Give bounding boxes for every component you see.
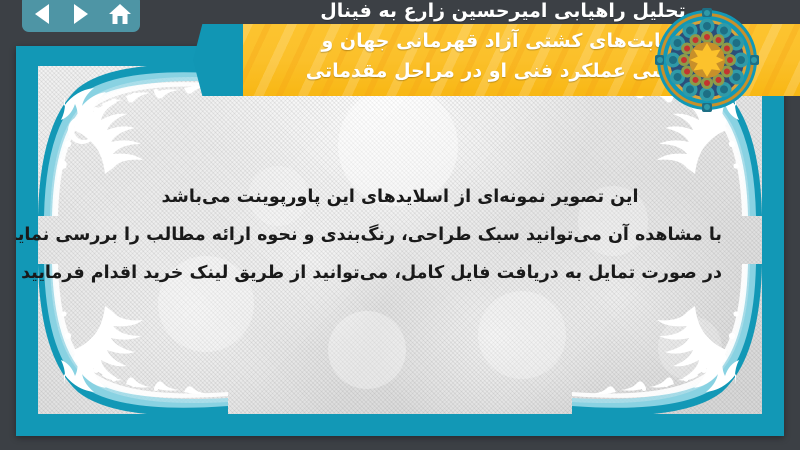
slide-body-text: این تصویر نمونه‌ای از اسلایدهای این پاور…: [78, 178, 722, 292]
persian-medallion-ornament: [655, 8, 759, 112]
bokeh-circle: [328, 311, 406, 389]
body-line-1: این تصویر نمونه‌ای از اسلایدهای این پاور…: [78, 178, 722, 216]
home-button[interactable]: [105, 1, 135, 27]
bokeh-circle: [478, 291, 566, 379]
banner-connector-arrow: [193, 24, 245, 96]
triangle-left-icon: [35, 4, 49, 24]
bokeh-circle: [658, 316, 722, 380]
body-line-3: در صورت تمایل به دریافت فایل کامل، می‌تو…: [78, 254, 722, 292]
body-line-2: با مشاهده آن می‌توانید سبک طراحی، رنگ‌بن…: [78, 216, 722, 254]
slide-content-area: این تصویر نمونه‌ای از اسلایدهای این پاور…: [38, 66, 762, 414]
home-icon: [108, 3, 132, 25]
triangle-right-icon: [74, 4, 88, 24]
next-slide-button[interactable]: [66, 1, 96, 27]
slide-preview-stage: این تصویر نمونه‌ای از اسلایدهای این پاور…: [0, 0, 800, 450]
prev-slide-button[interactable]: [27, 1, 57, 27]
navigation-bar[interactable]: [22, 0, 140, 32]
